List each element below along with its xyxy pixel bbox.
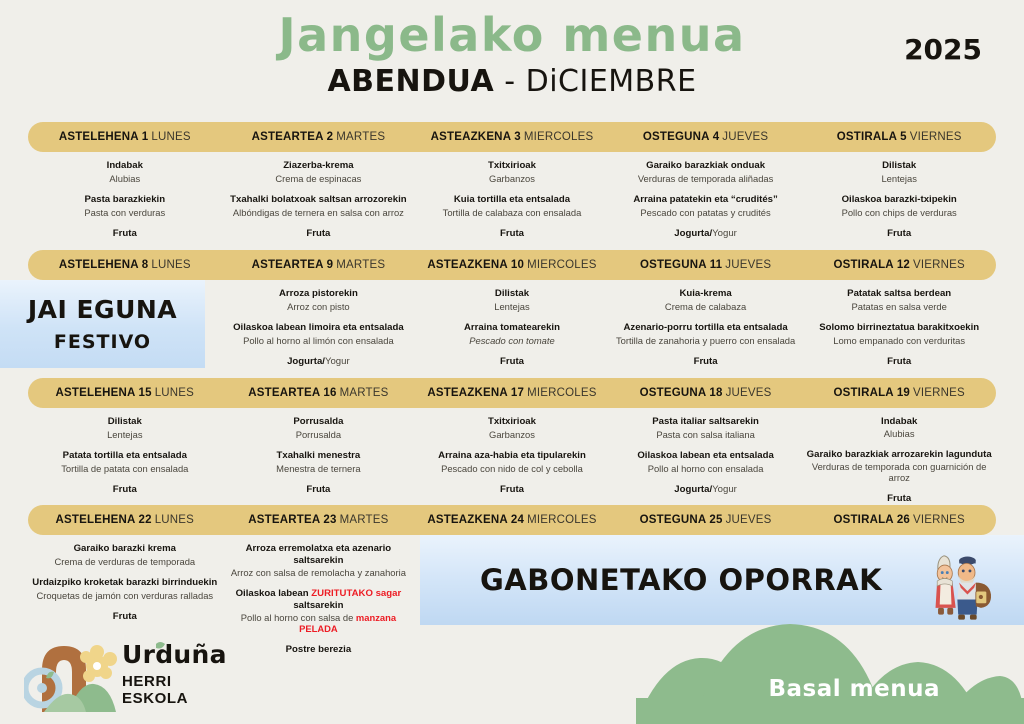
dish-second-eu: Pasta barazkiekin <box>85 194 166 206</box>
dessert-label: Fruta <box>113 484 137 496</box>
menu-cell: Porrusalda Porrusalda Txahalki menestra … <box>222 408 416 496</box>
dish-first-eu: Ziazerba-krema <box>283 160 353 172</box>
dish-first-es: Alubias <box>109 173 140 185</box>
menu-cell: Garaiko barazki krema Crema de verduras … <box>28 535 222 623</box>
day-header-monday: ASTELEHENA1LUNES <box>28 122 222 152</box>
menu-cell: Txitxirioak Garbanzos Kuia tortilla eta … <box>415 152 609 240</box>
dessert-label: Jogurta/Yogur <box>674 228 737 240</box>
dish-first-es: Pasta con salsa italiana <box>656 429 755 441</box>
day-header-friday: OSTIRALA19VIERNES <box>802 378 996 408</box>
olentzero-mari-domingi-icon <box>912 539 996 623</box>
dish-first-eu: Txitxirioak <box>488 160 536 172</box>
dish-first-eu: Indabak <box>107 160 143 172</box>
dish-second-es: Pescado con tomate <box>469 335 554 347</box>
menu-cell: Ziazerba-krema Crema de espinacas Txahal… <box>222 152 416 240</box>
day-header-wednesday: ASTEAZKENA17MIERCOLES <box>415 378 609 408</box>
dish-first-eu: Porrusalda <box>293 416 343 428</box>
menu-cell: Dilistak Lentejas Arraina tomatearekin P… <box>415 280 609 368</box>
dessert-es: Yogur <box>712 228 737 239</box>
day-header-friday: OSTIRALA12VIERNES <box>802 250 996 280</box>
dish-first-eu: Arroza pistorekin <box>279 288 358 300</box>
week-3-days: Dilistak Lentejas Patata tortilla eta en… <box>28 408 996 496</box>
dish-second-es: Tortilla de patata con ensalada <box>61 463 188 475</box>
basal-menu-label: Basal menua <box>769 676 941 702</box>
dessert-label: Fruta <box>306 484 330 496</box>
dish-first-es: Porrusalda <box>296 429 341 441</box>
dish-first-eu: Arroza erremolatxa eta azenario saltsare… <box>222 543 416 567</box>
school-logo: Urduña HERRI ESKOLA <box>24 626 234 718</box>
dessert-label: Fruta <box>887 228 911 240</box>
poster-header: Jangelako menua ABENDUA - DiCIEMBRE 2025 <box>0 0 1024 112</box>
dish-first-es: Lentejas <box>881 173 916 185</box>
dish-first-eu: Txitxirioak <box>488 416 536 428</box>
day-header-thursday: OSTEGUNA25JUEVES <box>609 505 803 535</box>
allergen-highlight-eu: ZURITUTAKO sagar <box>311 588 401 599</box>
dish-first-eu: Patatak saltsa berdean <box>847 288 951 300</box>
dish-first-es: Crema de espinacas <box>275 173 361 185</box>
dish-second-es: Tortilla de calabaza con ensalada <box>443 207 582 219</box>
dish-first-es: Crema de verduras de temporada <box>54 556 195 568</box>
menu-cell: Txitxirioak Garbanzos Arraina aza-habia … <box>415 408 609 496</box>
menu-cell: Dilistak Lentejas Patata tortilla eta en… <box>28 408 222 496</box>
dish-second-es: Tortilla de zanahoria y puerro con ensal… <box>616 335 795 347</box>
dish-first-es: Lentejas <box>107 429 142 441</box>
dish-second-es: Pescado con patatas y crudités <box>640 207 770 219</box>
dish-second-es: Pasta con verduras <box>84 207 165 219</box>
month-subtitle: ABENDUA - DiCIEMBRE <box>0 64 1024 99</box>
dish-second-es: Pollo con chips de verduras <box>842 207 957 219</box>
dish-first-eu: Garaiko barazkiak onduak <box>646 160 765 172</box>
dish-second-eu: Arraina aza-habia eta tipularekin <box>438 450 586 462</box>
menu-cell: Kuia-krema Crema de calabaza Azenario-po… <box>609 280 803 368</box>
dish-second-es: Pollo al horno al limón con ensalada <box>243 335 394 347</box>
week-1-days: Indabak Alubias Pasta barazkiekin Pasta … <box>28 152 996 240</box>
dessert-eu: Jogurta/ <box>287 356 325 367</box>
day-header-thursday: OSTEGUNA4JUEVES <box>609 122 803 152</box>
menu-cell: Patatak saltsa berdean Patatas en salsa … <box>802 280 996 368</box>
day-header-tuesday: ASTEARTEA23MARTES <box>222 505 416 535</box>
dish-second-es: Pollo al horno con ensalada <box>648 463 764 475</box>
dish-second-eu: Azenario-porru tortilla eta entsalada <box>623 322 787 334</box>
month-spanish: DiCIEMBRE <box>526 64 697 99</box>
menu-cell: Garaiko barazkiak onduak Verduras de tem… <box>609 152 803 240</box>
week-2-days: Arroza pistorekin Arroz con pisto Oilask… <box>28 280 996 368</box>
dessert-label: Fruta <box>887 356 911 368</box>
dish-second-eu: Oilaskoa labean eta entsalada <box>637 450 774 462</box>
day-header-tuesday: ASTEARTEA9MARTES <box>222 250 416 280</box>
dessert-es: Yogur <box>712 484 737 495</box>
dish-second-es: Pescado con nido de col y cebolla <box>441 463 583 475</box>
dish-second-eu: Solomo birrineztatua barakitxoekin <box>819 322 979 334</box>
dessert-label: Fruta <box>500 484 524 496</box>
dish-first-eu: Dilistak <box>108 416 142 428</box>
logo-school-name: Urduña <box>122 640 227 669</box>
dessert-label: Fruta <box>887 493 911 505</box>
weekday-header-cells: ASTELEHENA8LUNES ASTEARTEA9MARTES ASTEAZ… <box>28 250 996 280</box>
day-header-friday: OSTIRALA5VIERNES <box>802 122 996 152</box>
dish-second-eu: Oilaskoa labean limoira eta entsalada <box>233 322 404 334</box>
dessert-label: Fruta <box>306 228 330 240</box>
dish-second-eu: Patata tortilla eta entsalada <box>63 450 187 462</box>
menu-cell: Indabak Alubias Garaiko barazkiak arroza… <box>802 408 996 496</box>
dish-first-es: Garbanzos <box>489 173 535 185</box>
day-header-tuesday: ASTEARTEA16MARTES <box>222 378 416 408</box>
dessert-label: Jogurta/Yogur <box>287 356 350 368</box>
dish-second-eu: Arraina tomatearekin <box>464 322 560 334</box>
menu-cell: Arroza pistorekin Arroz con pisto Oilask… <box>222 280 416 368</box>
weekday-header-cells: ASTELEHENA22LUNES ASTEARTEA23MARTES ASTE… <box>28 505 996 535</box>
dish-first-es: Alubias <box>884 428 915 440</box>
month-separator: - <box>494 64 525 99</box>
day-header-thursday: OSTEGUNA11JUEVES <box>609 250 803 280</box>
dish-first-eu: Dilistak <box>495 288 529 300</box>
dish-second-eu: Kuia tortilla eta entsalada <box>454 194 570 206</box>
dish-second-es: Croquetas de jamón con verduras ralladas <box>36 590 213 602</box>
dish-second-es: Menestra de ternera <box>276 463 360 475</box>
day-header-friday: OSTIRALA26VIERNES <box>802 505 996 535</box>
dish-first-eu: Indabak <box>881 416 917 428</box>
dish-first-es: Garbanzos <box>489 429 535 441</box>
day-header-monday: ASTELEHENA8LUNES <box>28 250 222 280</box>
dessert-eu: Jogurta/ <box>674 228 712 239</box>
dish-first-eu: Kuia-krema <box>679 288 731 300</box>
dish-second-eu: Oilaskoa barazki-txipekin <box>842 194 957 206</box>
menu-cell: Arroza erremolatxa eta azenario saltsare… <box>222 535 416 623</box>
dessert-label: Fruta <box>500 356 524 368</box>
dessert-label: Fruta <box>113 228 137 240</box>
dish-second-es: Verduras de temporada con guarnición de … <box>802 461 996 485</box>
day-header-monday: ASTELEHENA22LUNES <box>28 505 222 535</box>
month-basque: ABENDUA <box>327 64 494 99</box>
dish-first-eu: Garaiko barazki krema <box>74 543 176 555</box>
dish-first-es: Arroz con salsa de remolacha y zanahoria <box>231 567 406 579</box>
day-header-monday: ASTELEHENA15LUNES <box>28 378 222 408</box>
day-header-wednesday: ASTEAZKENA24MIERCOLES <box>415 505 609 535</box>
dish-first-es: Verduras de temporada aliñadas <box>638 173 774 185</box>
menu-cell: Indabak Alubias Pasta barazkiekin Pasta … <box>28 152 222 240</box>
page-title: Jangelako menua <box>0 8 1024 62</box>
dish-first-eu: Pasta italiar saltsarekin <box>652 416 759 428</box>
dessert-eu: Jogurta/ <box>674 484 712 495</box>
dish-first-eu: Dilistak <box>882 160 916 172</box>
dish-second-eu: Oilaskoa labean ZURITUTAKO sagar saltsar… <box>222 588 416 612</box>
day-header-tuesday: ASTEARTEA2MARTES <box>222 122 416 152</box>
dish-second-eu: Urdaizpiko kroketak barazki birrinduekin <box>32 577 217 589</box>
dish-second-es: Lomo empanado con verduritas <box>833 335 965 347</box>
menu-cell: Pasta italiar saltsarekin Pasta con sals… <box>609 408 803 496</box>
weekday-header-cells: ASTELEHENA15LUNES ASTEARTEA16MARTES ASTE… <box>28 378 996 408</box>
dish-second-eu: Garaiko barazkiak arrozarekin lagunduta <box>807 449 992 461</box>
dish-first-es: Patatas en salsa verde <box>851 301 946 313</box>
dish-first-es: Arroz con pisto <box>287 301 350 313</box>
day-header-wednesday: ASTEAZKENA10MIERCOLES <box>415 250 609 280</box>
dish-second-eu: Txahalki menestra <box>277 450 361 462</box>
dish-first-es: Crema de calabaza <box>665 301 746 313</box>
dish-second-eu: Arraina patatekin eta “crudités” <box>633 194 778 206</box>
menu-cell-holiday <box>28 280 222 368</box>
year-label: 2025 <box>904 33 982 66</box>
christmas-holiday-banner: GABONETAKO OPORRAK <box>420 535 1024 625</box>
day-header-thursday: OSTEGUNA18JUEVES <box>609 378 803 408</box>
logo-school-type: HERRI ESKOLA <box>122 673 234 707</box>
dish-second-eu: Txahalki bolatxoak saltsan arrozorekin <box>230 194 407 206</box>
menu-cell: Dilistak Lentejas Oilaskoa barazki-txipe… <box>802 152 996 240</box>
dessert-label: Fruta <box>694 356 718 368</box>
menu-poster: Jangelako menua ABENDUA - DiCIEMBRE 2025… <box>0 0 1024 724</box>
dessert-es: Yogur <box>325 356 350 367</box>
dish-first-es: Lentejas <box>494 301 529 313</box>
dessert-label: Jogurta/Yogur <box>674 484 737 496</box>
dessert-label: Fruta <box>500 228 524 240</box>
weekday-header-cells: ASTELEHENA1LUNES ASTEARTEA2MARTES ASTEAZ… <box>28 122 996 152</box>
holiday-banner-label: GABONETAKO OPORRAK <box>480 563 882 597</box>
day-header-wednesday: ASTEAZKENA3MIERCOLES <box>415 122 609 152</box>
dish-second-es: Albóndigas de ternera en salsa con arroz <box>233 207 404 219</box>
